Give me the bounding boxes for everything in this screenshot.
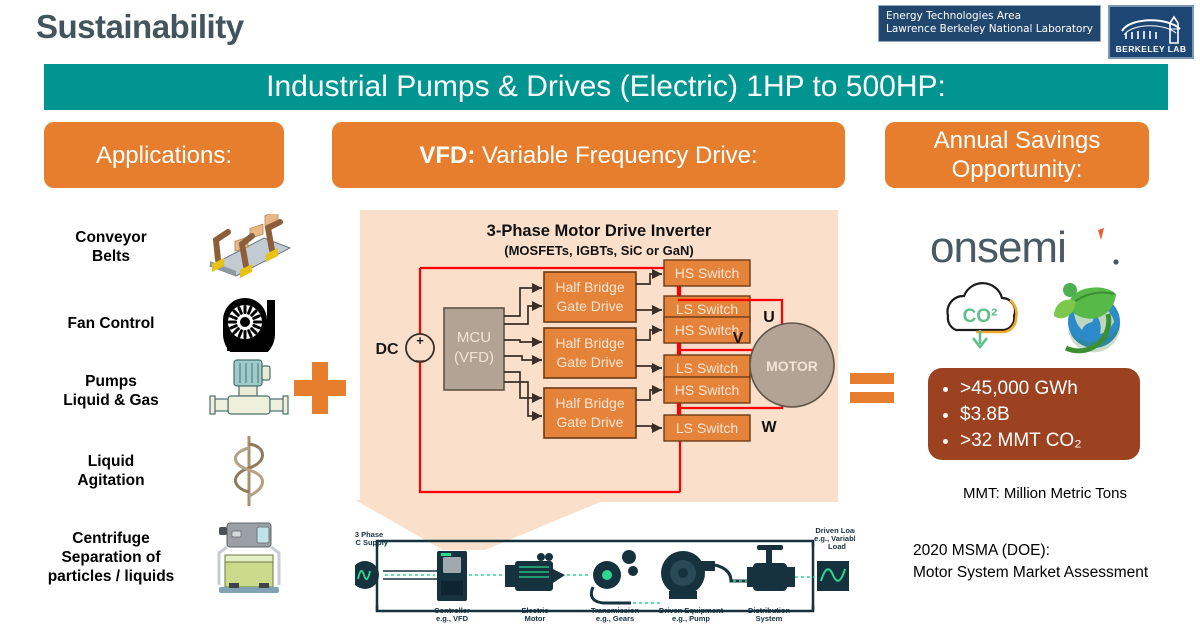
application-label: Conveyor Belts [22,228,200,266]
svg-text:AC Supply: AC Supply [355,538,389,547]
section-banner: Industrial Pumps & Drives (Electric) 1HP… [44,64,1168,110]
svg-text:e.g., VFD: e.g., VFD [436,614,469,623]
savings-header-pill: Annual Savings Opportunity: [885,122,1149,188]
svg-text:HS Switch: HS Switch [675,322,740,338]
pump-icon [200,356,296,426]
applications-header-label: Applications: [96,141,232,170]
savings-item: $3.8B [960,402,1140,428]
inverter-schematic: + _ DC MCU (VFD) [360,210,838,502]
application-label: Pumps Liquid & Gas [22,372,200,410]
svg-text:Load: Load [828,542,846,551]
svg-text:Motor: Motor [525,614,546,623]
motor-system-strip: 3 Phase AC Supply Controller e.g., VFD E… [355,525,855,627]
savings-header-label: Annual Savings Opportunity: [934,126,1101,184]
fan-icon [200,288,296,358]
svg-text:Half Bridge: Half Bridge [555,279,624,295]
application-row-pumps: Pumps Liquid & Gas [22,356,302,426]
application-label: Centrifuge Separation of particles / liq… [22,529,200,586]
vfd-header-abbrev: VFD: Variable Frequency Drive: [419,141,757,170]
svg-text:MCU: MCU [457,329,491,346]
lbnl-org-line1: Energy Technologies Area [886,10,1021,22]
source-footnote: 2020 MSMA (DOE): Motor System Market Ass… [913,540,1200,584]
svg-text:Gate Drive: Gate Drive [557,354,624,370]
application-label: Liquid Agitation [22,452,200,490]
svg-text:_: _ [415,347,424,362]
co2-cloud-icon: CO² [947,283,1016,347]
svg-text:HS Switch: HS Switch [675,265,740,281]
svg-text:DC: DC [375,341,399,358]
svg-text:LS Switch: LS Switch [676,301,738,317]
application-row-conveyor-belts: Conveyor Belts [22,212,302,282]
vfd-abbrev-rest: Variable Frequency Drive: [475,142,757,169]
lbnl-branding: Energy Technologies AreaLawrence Berkele… [878,5,1194,59]
savings-list: >45,000 GWh $3.8B >32 MMT CO₂ [944,376,1140,454]
equals-operator-icon [848,368,896,408]
mmt-footnote: MMT: Million Metric Tons [930,485,1160,502]
berkeley-lab-logo-icon: BERKELEY LAB [1108,5,1194,59]
source-line-2: Motor System Market Assessment [913,562,1200,584]
conveyor-belt-icon [200,212,296,282]
svg-text:V: V [733,330,744,347]
svg-text:System: System [756,614,783,623]
onsemi-logo: onsemi [930,222,1130,274]
svg-text:LS Switch: LS Switch [676,420,738,436]
svg-text:Gate Drive: Gate Drive [557,298,624,314]
application-row-fan-control: Fan Control [22,288,302,358]
savings-item: >45,000 GWh [960,376,1140,402]
svg-text:(VFD): (VFD) [454,349,494,366]
lbnl-org-text: Energy Technologies AreaLawrence Berkele… [878,5,1101,42]
banner-title: Industrial Pumps & Drives (Electric) 1HP… [266,70,946,104]
svg-text:HS Switch: HS Switch [675,382,740,398]
svg-text:e.g., Pump: e.g., Pump [672,614,710,623]
page-title: Sustainability [36,8,244,46]
svg-text:U: U [763,309,775,326]
vfd-header-pill: VFD: Variable Frequency Drive: [332,122,845,188]
application-row-liquid-agitation: Liquid Agitation [22,436,302,506]
slide-root: Sustainability Energy Technologies AreaL… [0,0,1200,627]
savings-box: >45,000 GWh $3.8B >32 MMT CO₂ [928,368,1140,460]
svg-text:e.g., Gears: e.g., Gears [596,614,634,623]
eco-icons-group: CO² [918,272,1148,354]
centrifuge-icon [200,522,296,592]
svg-text:MOTOR: MOTOR [766,358,818,374]
svg-text:Half Bridge: Half Bridge [555,395,624,411]
applications-header-pill: Applications: [44,122,284,188]
svg-text:+: + [416,333,424,348]
svg-text:Gate Drive: Gate Drive [557,414,624,430]
application-row-centrifuge: Centrifuge Separation of particles / liq… [22,522,302,592]
svg-text:CO²: CO² [963,306,998,327]
lbnl-org-line2: Lawrence Berkeley National Laboratory [886,23,1093,35]
agitator-icon [200,436,296,506]
source-line-1: 2020 MSMA (DOE): [913,540,1200,562]
green-earth-leaf-icon [1054,283,1120,352]
application-label: Fan Control [22,314,200,333]
svg-text:W: W [761,419,777,436]
plus-operator-icon [290,358,350,418]
svg-text:onsemi: onsemi [930,223,1066,272]
inverter-panel: 3-Phase Motor Drive Inverter (MOSFETs, I… [360,210,838,502]
savings-item: >32 MMT CO₂ [960,428,1140,454]
vfd-abbrev-bold: VFD: [419,142,475,169]
svg-text:Half Bridge: Half Bridge [555,335,624,351]
svg-text:LS Switch: LS Switch [676,360,738,376]
